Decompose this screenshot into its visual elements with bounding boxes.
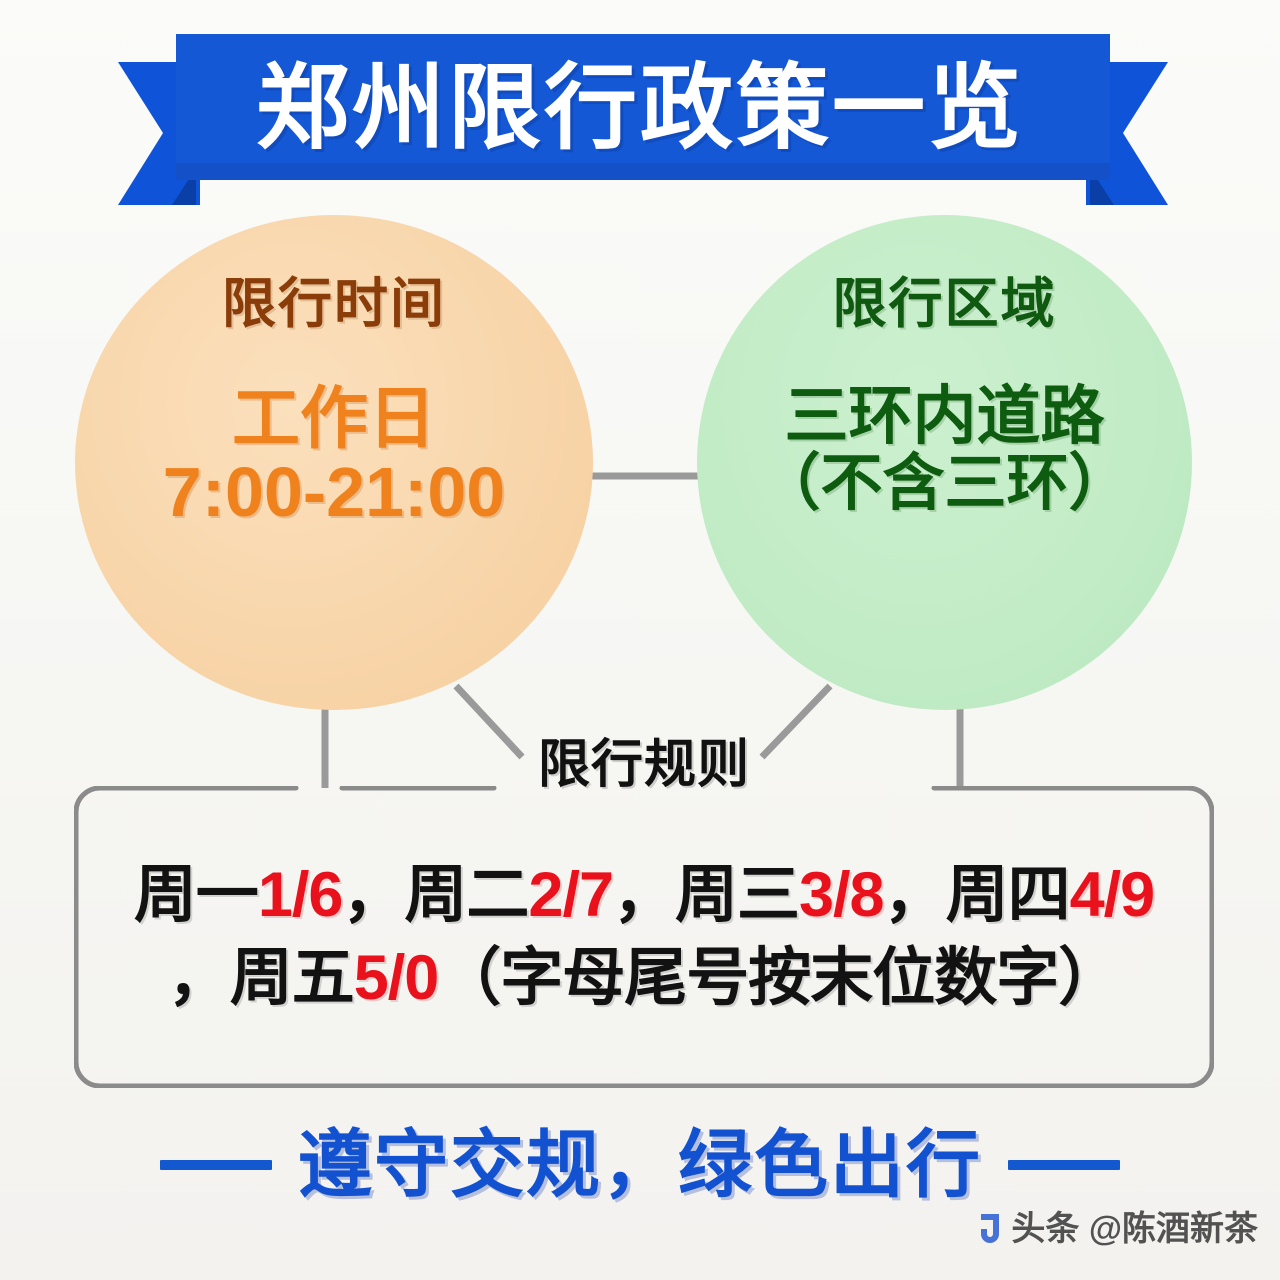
page-title: 郑州限行政策一览 [0,36,1280,181]
rule-number: 1/6 [258,860,343,930]
rule-word: ，周四 [884,860,1070,930]
rule-word: ，周二 [342,860,528,930]
node-limit-area-heading: 限行区域 [833,277,1057,331]
title-ribbon: 郑州限行政策一览 [0,0,1280,215]
rule-number: 3/8 [799,860,884,930]
node-limit-time-line2: 7:00-21:00 [163,455,505,529]
rule-word: 周一 [134,860,258,930]
slogan-dash-left [160,1160,272,1170]
watermark-text: 头条 @陈酒新茶 [1011,1212,1258,1246]
node-limit-area-line1: 三环内道路 [758,383,1130,451]
rule-number: 2/7 [528,860,613,930]
node-limit-time-body: 工作日 7:00-21:00 [163,383,505,529]
rules-box: 限行规则 周一1/6，周二2/7，周三3/8，周四4/9 ，周五5/0（字母尾号… [74,786,1214,1088]
rule-word: ，周五 [168,943,354,1013]
rule-word: （字母尾号按末位数字） [438,943,1120,1013]
rules-line-2: ，周五5/0（字母尾号按末位数字） [96,937,1192,1020]
infographic-canvas: 郑州限行政策一览 限行时间 工作日 7:00-21:00 限行区域 三环内道路 … [0,0,1280,1280]
rule-word: ，周三 [613,860,799,930]
rules-line-1: 周一1/6，周二2/7，周三3/8，周四4/9 [96,854,1192,937]
rule-number: 4/9 [1070,860,1155,930]
slogan-text: 遵守交规，绿色出行 [298,1128,982,1202]
node-limit-area: 限行区域 三环内道路 （不含三环） [697,215,1192,710]
slogan: 遵守交规，绿色出行 [0,1128,1280,1202]
toutiao-logo-glyph [977,1212,1003,1246]
slogan-dash-right [1008,1160,1120,1170]
watermark: 头条 @陈酒新茶 [977,1212,1258,1246]
node-limit-area-line2: （不含三环） [758,451,1130,517]
node-limit-time-heading: 限行时间 [222,277,446,331]
node-limit-area-body: 三环内道路 （不含三环） [758,383,1130,517]
rules-label: 限行规则 [74,739,1214,791]
node-limit-time-line1: 工作日 [163,383,505,455]
node-limit-time: 限行时间 工作日 7:00-21:00 [75,215,593,710]
rules-text: 周一1/6，周二2/7，周三3/8，周四4/9 ，周五5/0（字母尾号按末位数字… [96,854,1192,1020]
toutiao-logo-icon [977,1212,1003,1246]
rule-number: 5/0 [354,943,439,1013]
